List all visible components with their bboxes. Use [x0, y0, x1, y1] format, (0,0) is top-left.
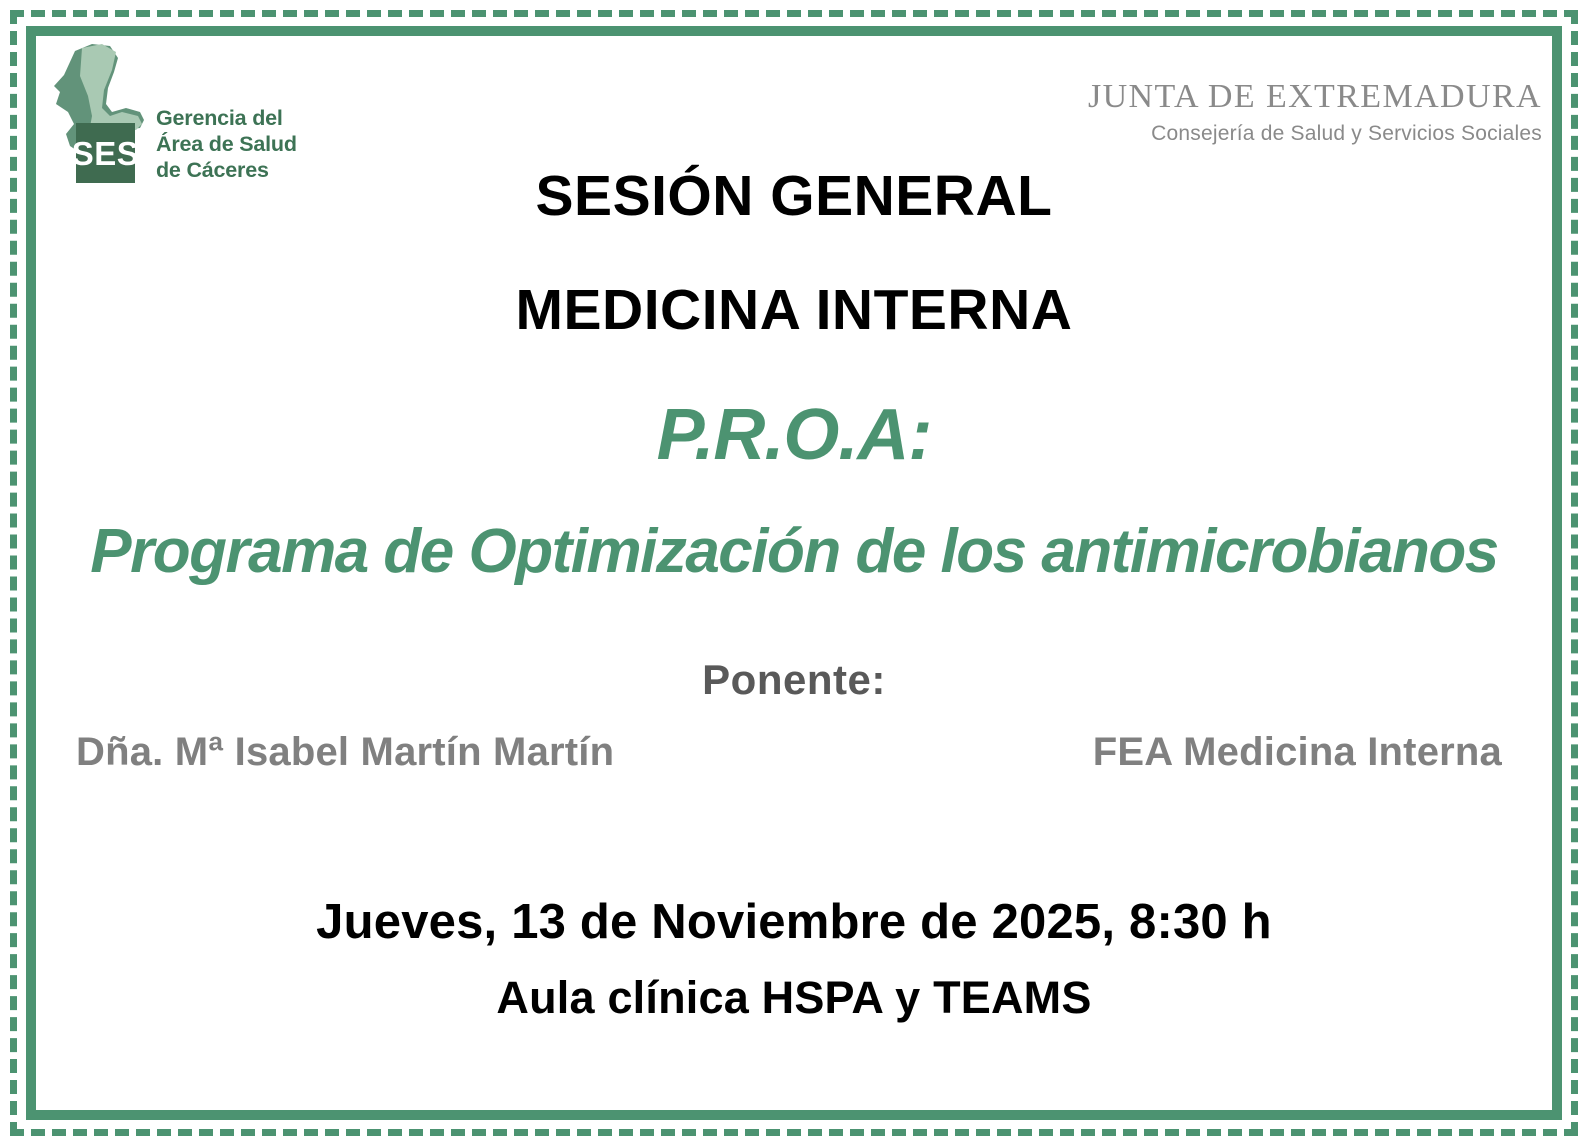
speaker-role: FEA Medicina Interna	[1093, 730, 1502, 775]
svg-text:SES: SES	[72, 135, 140, 172]
session-acronym-title: P.R.O.A:	[36, 399, 1552, 471]
ses-text-line-1: Gerencia del	[156, 106, 297, 132]
event-venue: Aula clínica HSPA y TEAMS	[36, 975, 1552, 1020]
speaker-label: Ponente:	[36, 656, 1552, 704]
session-subtitle: Programa de Optimización de los antimicr…	[36, 521, 1552, 583]
poster-content: SES Gerencia del Área de Salud de Cácere…	[36, 36, 1552, 1110]
extremadura-map-icon: SES	[52, 42, 148, 187]
event-details: Jueves, 13 de Noviembre de 2025, 8:30 h …	[36, 898, 1552, 1020]
junta-logo-subtitle: Consejería de Salud y Servicios Sociales	[1088, 123, 1542, 144]
heading-block: SESIÓN GENERAL MEDICINA INTERNA P.R.O.A:…	[36, 168, 1552, 583]
junta-logo-title: JUNTA DE EXTREMADURA	[1088, 80, 1542, 114]
event-datetime: Jueves, 13 de Noviembre de 2025, 8:30 h	[36, 898, 1552, 947]
poster-canvas: SES Gerencia del Área de Salud de Cácere…	[0, 0, 1588, 1146]
speaker-row: Dña. Mª Isabel Martín Martín FEA Medicin…	[76, 730, 1522, 775]
ses-text-line-2: Área de Salud	[156, 132, 297, 158]
speaker-name: Dña. Mª Isabel Martín Martín	[76, 730, 614, 775]
page-title-line-1: SESIÓN GENERAL	[36, 168, 1552, 225]
ses-logo: SES Gerencia del Área de Salud de Cácere…	[52, 42, 297, 187]
junta-extremadura-logo: JUNTA DE EXTREMADURA Consejería de Salud…	[1088, 80, 1542, 144]
page-title-line-2: MEDICINA INTERNA	[36, 282, 1552, 339]
